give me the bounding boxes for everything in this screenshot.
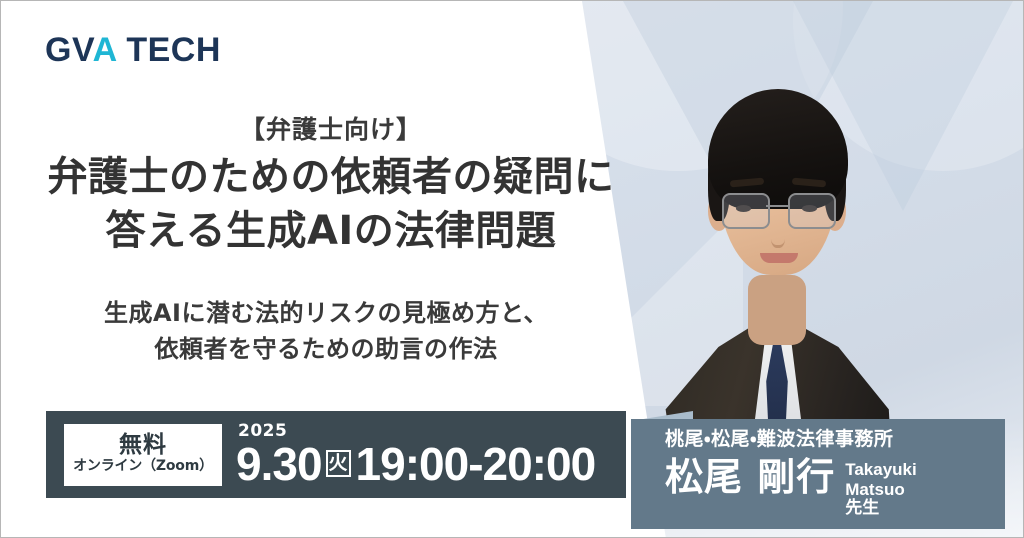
speaker-name-english: Takayuki Matsuo 先生 <box>845 460 917 519</box>
portrait-neck <box>748 275 806 345</box>
subtitle-line-2: 依頼者を守るための助言の作法 <box>1 331 651 367</box>
subtitle-line-1: 生成AIに潜む法的リスクの見極め方と、 <box>1 295 651 331</box>
headline-line-1: 弁護士のための依頼者の疑問に <box>1 151 661 205</box>
seminar-banner: GVA TECH 【弁護士向け】 弁護士のための依頼者の疑問に 答える生成AIの… <box>0 0 1024 538</box>
headline-line-2: 答える生成AIの法律問題 <box>1 205 661 259</box>
event-day: 9.30 <box>236 441 322 487</box>
logo-text-accent: A <box>93 31 117 69</box>
headline-block: 【弁護士向け】 弁護士のための依頼者の疑問に 答える生成AIの法律問題 <box>1 114 661 258</box>
portrait-glasses-left <box>722 193 770 229</box>
subtitle-block: 生成AIに潜む法的リスクの見極め方と、 依頼者を守るための助言の作法 <box>1 295 651 368</box>
gva-tech-logo: GVA TECH <box>45 33 221 67</box>
event-datetime: 2025 9.30 火 19:00-20:00 <box>236 423 595 487</box>
badge-format-label: オンライン（Zoom） <box>73 458 213 476</box>
portrait-mouth <box>760 253 798 263</box>
event-year: 2025 <box>238 423 595 440</box>
portrait-nose <box>771 225 785 248</box>
speaker-given-name: Takayuki <box>845 460 917 480</box>
portrait-hair <box>708 89 848 209</box>
logo-text-prefix: GV <box>45 31 93 69</box>
event-day-of-week: 火 <box>326 450 351 477</box>
speaker-name-row: 松尾 剛行 Takayuki Matsuo 先生 <box>665 458 1005 519</box>
event-info-bar: 無料 オンライン（Zoom） 2025 9.30 火 19:00-20:00 <box>46 411 626 498</box>
speaker-panel: 桃尾・松尾・難波法律事務所 松尾 剛行 Takayuki Matsuo 先生 <box>631 419 1005 529</box>
portrait-glasses-right <box>788 193 836 229</box>
speaker-honorific: 先生 <box>845 499 917 519</box>
logo-text-suffix: TECH <box>116 31 221 69</box>
event-date-row: 9.30 火 19:00-20:00 <box>236 441 595 487</box>
portrait-glasses-bridge <box>766 205 788 207</box>
price-format-badge: 無料 オンライン（Zoom） <box>64 424 222 486</box>
speaker-family-name: Matsuo <box>845 480 917 500</box>
speaker-name-japanese: 松尾 剛行 <box>665 458 835 497</box>
event-time: 19:00-20:00 <box>356 441 596 487</box>
speaker-firm: 桃尾・松尾・難波法律事務所 <box>665 430 1005 449</box>
headline-eyebrow: 【弁護士向け】 <box>1 114 661 145</box>
badge-price-label: 無料 <box>119 433 167 458</box>
